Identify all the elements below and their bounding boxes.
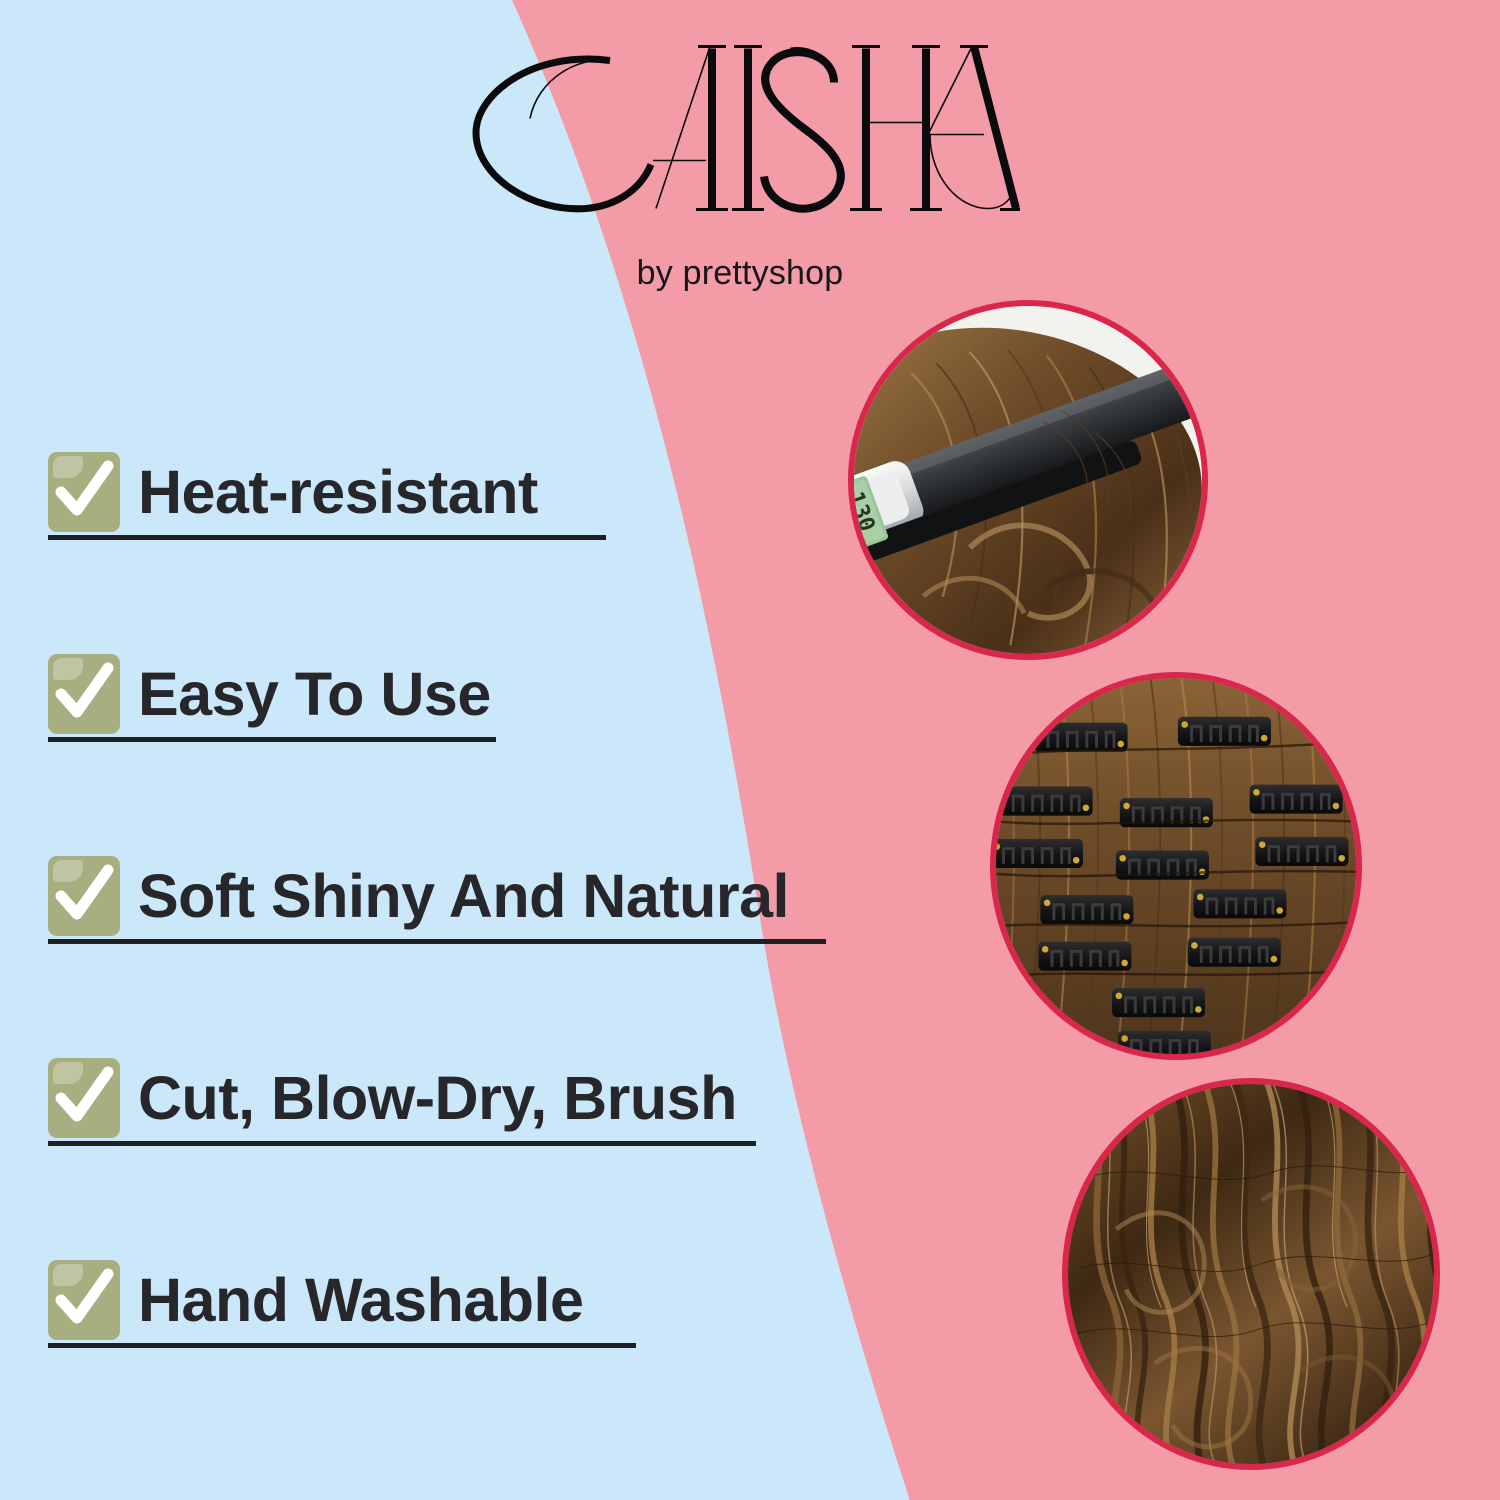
feature-item-hand-washable: Hand Washable	[48, 1248, 878, 1340]
feature-item-cut-blowdry-brush: Cut, Blow-Dry, Brush	[48, 1046, 878, 1138]
feature-label: Hand Washable	[138, 1270, 583, 1331]
caisha-wordmark	[460, 34, 1020, 219]
checkmark-glyph	[48, 1260, 120, 1340]
feature-underline	[48, 535, 606, 540]
checkmark-glyph	[48, 1058, 120, 1138]
check-icon	[48, 1260, 120, 1340]
checkmark-glyph	[48, 856, 120, 936]
photo-hair-texture-closeup	[1062, 1078, 1440, 1470]
feature-item-easy-to-use: Easy To Use	[48, 642, 878, 734]
checkmark-glyph	[48, 654, 120, 734]
feature-checklist: Heat-resistant Easy To Use	[48, 440, 878, 1340]
brand-logo: by prettyshop	[440, 34, 1040, 284]
feature-label: Heat-resistant	[138, 462, 538, 523]
brand-tagline: by prettyshop	[440, 256, 1040, 290]
feature-underline	[48, 737, 496, 742]
feature-underline	[48, 939, 826, 944]
feature-underline	[48, 1343, 636, 1348]
check-icon	[48, 1058, 120, 1138]
photo-clip-in-wefts	[990, 672, 1362, 1060]
check-icon	[48, 856, 120, 936]
feature-label: Easy To Use	[138, 664, 491, 725]
check-icon	[48, 452, 120, 532]
product-infographic: by prettyshop Heat-resistant	[0, 0, 1500, 1500]
checkmark-glyph	[48, 452, 120, 532]
feature-label: Cut, Blow-Dry, Brush	[138, 1068, 737, 1129]
check-icon	[48, 654, 120, 734]
photo-straightener-on-hair: 130	[848, 300, 1208, 660]
feature-underline	[48, 1141, 756, 1146]
feature-label: Soft Shiny And Natural	[138, 866, 789, 927]
feature-item-soft-shiny-natural: Soft Shiny And Natural	[48, 844, 878, 936]
feature-item-heat-resistant: Heat-resistant	[48, 440, 878, 532]
